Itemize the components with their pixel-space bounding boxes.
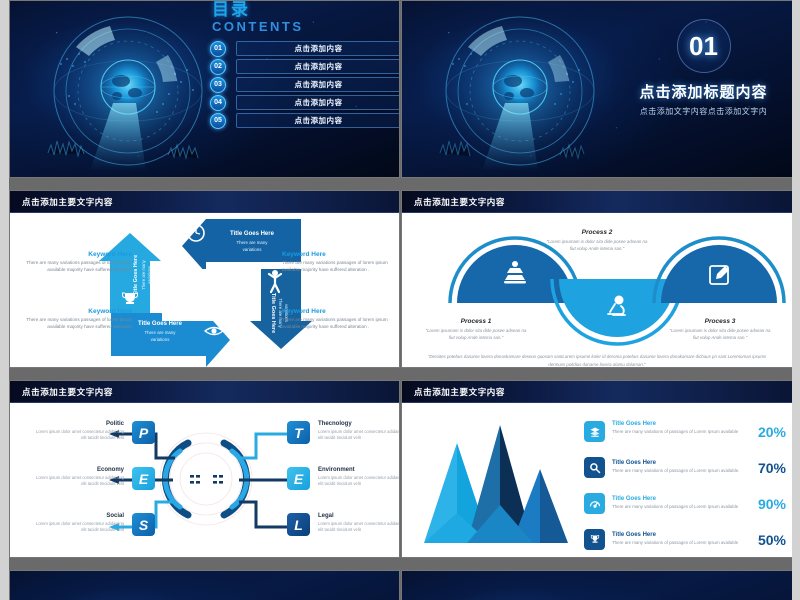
pestel-item-technology[interactable]: T Thecnology Lorem ipsum dolor amet cons…: [287, 421, 400, 444]
svg-text:variations: variations: [151, 337, 171, 342]
arrow-cycle-diagram: Title Goes Here There are many variation…: [10, 213, 399, 367]
keyword-block: Keyword Here There are many variations p…: [20, 308, 132, 331]
keyword-title: Keyword Here: [282, 251, 394, 258]
slide-grid: 目录 CONTENTS 01 点击添加内容 02 点击添加内容 03 点击添加内…: [9, 0, 792, 600]
keyword-title: Keyword Here: [282, 308, 394, 315]
process-body: "Lorem ipsumam is dolor sita dide posee …: [545, 239, 649, 253]
stat-text: Title Goes Here There are many variation…: [612, 532, 740, 546]
svg-text:Title Goes Here: Title Goes Here: [230, 231, 275, 237]
toc-number: 03: [210, 77, 226, 93]
pestel-letter-badge: E: [287, 467, 310, 490]
process-title: Process 1: [424, 318, 528, 325]
keyword-block: Keyword Here There are many variations p…: [282, 308, 394, 331]
pestel-body: Lorem ipsum dolor amet consectetur adida…: [32, 521, 124, 534]
trophy-icon: [584, 529, 605, 550]
slide-arrow-cycle[interactable]: 点击添加主要文字内容: [9, 190, 400, 368]
pestel-letter-badge: P: [132, 421, 155, 444]
pestel-items: P Politic Lorem ipsum dolor amet consect…: [10, 403, 399, 557]
toc-number: 04: [210, 95, 226, 111]
process-title: Process 2: [545, 229, 649, 236]
process-title: Process 3: [668, 318, 772, 325]
slide-body: Title Goes Here There are many variation…: [402, 403, 792, 557]
pestel-item-social[interactable]: S Social Lorem ipsum dolor amet consecte…: [32, 513, 155, 536]
slide-next-partial-right[interactable]: [401, 570, 792, 600]
pestel-text: Environment Lorem ipsum dolor amet conse…: [318, 467, 400, 488]
pestel-body: Lorem ipsum dolor amet consectetur adida…: [32, 429, 124, 442]
keyword-title: Keyword Here: [20, 251, 132, 258]
process-body: "Lorem ipsumam is dolor sita dide posee …: [424, 328, 528, 342]
slide-mountain-stats[interactable]: 点击添加主要文字内容: [401, 380, 792, 558]
process-label: Process 1 "Lorem ipsumam is dolor sita d…: [424, 318, 528, 342]
keyword-block: Keyword Here There are many variations p…: [282, 251, 394, 274]
toc-number: 02: [210, 59, 226, 75]
pestel-title: Environment: [318, 467, 400, 473]
slide-header-title: 点击添加主要文字内容: [22, 196, 113, 208]
stat-body: There are many variations of passages of…: [612, 429, 740, 442]
stat-title: Title Goes Here: [612, 460, 740, 466]
pestel-item-politic[interactable]: P Politic Lorem ipsum dolor amet consect…: [32, 421, 155, 444]
slide-section-divider[interactable]: 01 点击添加标题内容 点击添加文字内容点击添加文字内: [401, 0, 792, 178]
svg-text:There are many: There are many: [237, 240, 269, 245]
pestel-text: Social Lorem ipsum dolor amet consectetu…: [32, 513, 124, 534]
slide-contents[interactable]: 目录 CONTENTS 01 点击添加内容 02 点击添加内容 03 点击添加内…: [9, 0, 400, 178]
search-icon: [584, 457, 605, 478]
pestel-text: Politic Lorem ipsum dolor amet consectet…: [32, 421, 124, 442]
contents-title-en: CONTENTS: [212, 19, 400, 35]
keyword-title: Keyword Here: [20, 308, 132, 315]
section-title[interactable]: 点击添加标题内容: [614, 81, 792, 102]
slide-thumbnail-page: 目录 CONTENTS 01 点击添加内容 02 点击添加内容 03 点击添加内…: [0, 0, 800, 600]
contents-title-cn: 目录: [212, 1, 400, 19]
pestel-item-environment[interactable]: E Environment Lorem ipsum dolor amet con…: [287, 467, 400, 490]
layers-icon: [584, 421, 605, 442]
slide-pestel[interactable]: 点击添加主要文字内容: [9, 380, 400, 558]
pestel-letter-badge: S: [132, 513, 155, 536]
mountain-chart: [412, 421, 577, 556]
svg-text:There are many: There are many: [145, 330, 177, 335]
slide-body: Process 1 "Lorem ipsumam is dolor sita d…: [402, 213, 792, 367]
process-label: Process 3 "Lorem ipsumam is dolor sita d…: [668, 318, 772, 342]
slide-header-title: 点击添加主要文字内容: [414, 386, 505, 398]
stat-row[interactable]: Title Goes Here There are many variation…: [584, 415, 786, 448]
stat-percent: 50%: [746, 532, 786, 548]
keyword-body: There are many variations passages of lo…: [282, 317, 394, 331]
gauge-icon: [584, 493, 605, 514]
pestel-body: Lorem ipsum dolor amet consectetur adida…: [318, 521, 400, 534]
svg-text:variations: variations: [243, 247, 263, 252]
svg-text:variations: variations: [147, 266, 152, 284]
toc-item[interactable]: 04 点击添加内容: [210, 95, 400, 110]
svg-text:There are many: There are many: [141, 259, 146, 289]
pestel-text: Thecnology Lorem ipsum dolor amet consec…: [318, 421, 400, 442]
stat-body: There are many variations of passages of…: [612, 468, 740, 475]
toc-item[interactable]: 03 点击添加内容: [210, 77, 400, 92]
svg-text:Title Goes Here: Title Goes Here: [133, 255, 139, 295]
pestel-title: Economy: [32, 467, 124, 473]
contents-column: 目录 CONTENTS 01 点击添加内容 02 点击添加内容 03 点击添加内…: [202, 1, 400, 178]
pestel-text: Legal Lorem ipsum dolor amet consectetur…: [318, 513, 400, 534]
stat-title: Title Goes Here: [612, 496, 740, 502]
pestel-title: Legal: [318, 513, 400, 519]
process-footer-text: "Deroites potebus daname lovera donaskam…: [424, 353, 770, 368]
toc-item[interactable]: 02 点击添加内容: [210, 59, 400, 74]
toc-label[interactable]: 点击添加内容: [236, 59, 400, 74]
slide-header-title: 点击添加主要文字内容: [414, 196, 505, 208]
slide-header-bar: 点击添加主要文字内容: [402, 381, 792, 403]
stat-text: Title Goes Here There are many variation…: [612, 496, 740, 510]
pestel-body: Lorem ipsum dolor amet consectetur adida…: [318, 475, 400, 488]
toc-number: 01: [210, 41, 226, 57]
toc-item[interactable]: 01 点击添加内容: [210, 41, 400, 56]
stat-body: There are many variations of passages of…: [612, 540, 740, 547]
pestel-letter-badge: T: [287, 421, 310, 444]
section-subtitle[interactable]: 点击添加文字内容点击添加文字内: [614, 106, 792, 117]
stat-row[interactable]: Title Goes Here There are many variation…: [584, 487, 786, 520]
slide-body: Title Goes Here There are many variation…: [10, 213, 399, 367]
stats-list: Title Goes Here There are many variation…: [584, 415, 786, 558]
slide-header-bar: 点击添加主要文字内容: [402, 191, 792, 213]
stat-title: Title Goes Here: [612, 532, 740, 538]
stat-percent: 20%: [746, 424, 786, 440]
pestel-title: Thecnology: [318, 421, 400, 427]
stat-text: Title Goes Here There are many variation…: [612, 460, 740, 474]
toc-label[interactable]: 点击添加内容: [236, 95, 400, 110]
pestel-body: Lorem ipsum dolor amet consectetur adida…: [318, 429, 400, 442]
section-number-badge: 01: [677, 19, 731, 73]
process-body: "Lorem ipsumam is dolor sita dide posee …: [668, 328, 772, 342]
toc-label[interactable]: 点击添加内容: [236, 77, 400, 92]
slide-header-bar: 点击添加主要文字内容: [10, 381, 399, 403]
toc-label[interactable]: 点击添加内容: [236, 113, 400, 128]
process-label: Process 2 "Lorem ipsumam is dolor sita d…: [545, 229, 649, 253]
pestel-item-economy[interactable]: E Economy Lorem ipsum dolor amet consect…: [32, 467, 155, 490]
stat-row[interactable]: Title Goes Here There are many variation…: [584, 451, 786, 484]
pestel-item-legal[interactable]: L Legal Lorem ipsum dolor amet consectet…: [287, 513, 400, 536]
slide-next-partial-left[interactable]: [9, 570, 400, 600]
pestel-letter-badge: E: [132, 467, 155, 490]
stat-percent: 70%: [746, 460, 786, 476]
keyword-block: Keyword Here There are many variations p…: [20, 251, 132, 274]
section-content: 01 点击添加标题内容 点击添加文字内容点击添加文字内: [614, 13, 792, 117]
slide-process-wave[interactable]: 点击添加主要文字内容: [401, 190, 792, 368]
stat-title: Title Goes Here: [612, 421, 740, 427]
toc-label[interactable]: 点击添加内容: [236, 41, 400, 56]
toc-number: 05: [210, 113, 226, 129]
pestel-text: Economy Lorem ipsum dolor amet consectet…: [32, 467, 124, 488]
keyword-body: There are many variations passages of lo…: [20, 317, 132, 331]
stat-body: There are many variations of passages of…: [612, 504, 740, 511]
slide-body: P Politic Lorem ipsum dolor amet consect…: [10, 403, 399, 557]
toc-item[interactable]: 05 点击添加内容: [210, 113, 400, 128]
globe-hud-graphic: [410, 3, 630, 178]
stat-percent: 90%: [746, 496, 786, 512]
slide-header-bar: 点击添加主要文字内容: [10, 191, 399, 213]
stat-text: Title Goes Here There are many variation…: [612, 421, 740, 442]
pestel-letter-badge: L: [287, 513, 310, 536]
pestel-body: Lorem ipsum dolor amet consectetur adida…: [32, 475, 124, 488]
slide-header-title: 点击添加主要文字内容: [22, 386, 113, 398]
keyword-body: There are many variations passages of lo…: [20, 260, 132, 274]
svg-text:Title Goes Here: Title Goes Here: [138, 321, 183, 327]
keyword-body: There are many variations passages of lo…: [282, 260, 394, 274]
svg-text:Title Goes Here: Title Goes Here: [270, 293, 276, 333]
pestel-title: Social: [32, 513, 124, 519]
pestel-title: Politic: [32, 421, 124, 427]
stat-row[interactable]: Title Goes Here There are many variation…: [584, 523, 786, 556]
